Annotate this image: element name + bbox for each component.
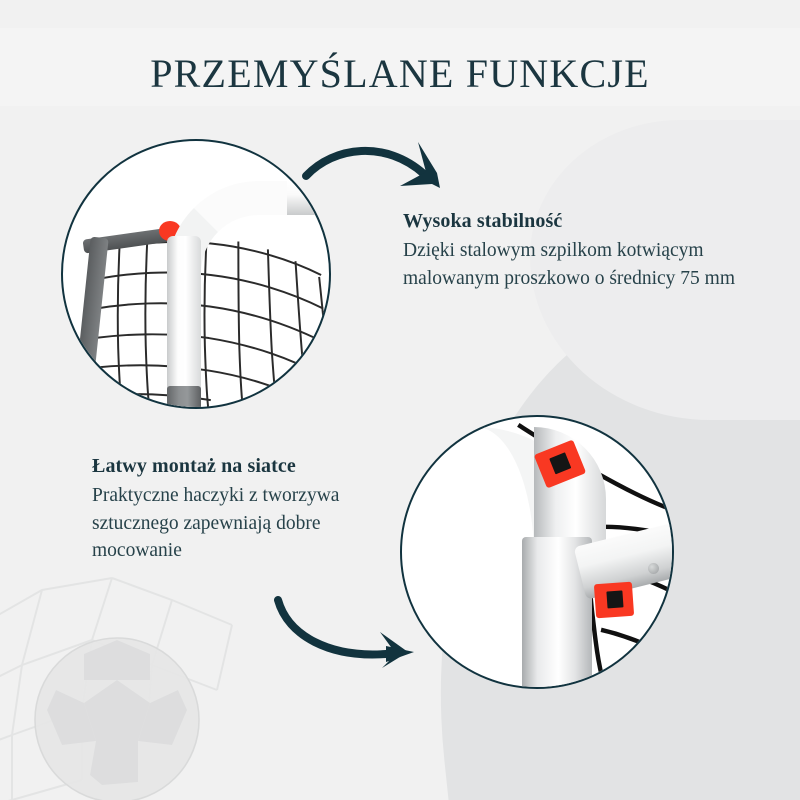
feature-heading-mounting: Łatwy montaż na siatce [92,454,382,479]
page-title: PRZEMYŚLANE FUNKCJE [0,50,800,97]
goal-vertical-post [167,236,201,409]
feature-heading-stability: Wysoka stabilność [403,209,793,234]
infographic-canvas: PRZEMYŚLANE FUNKCJE [0,0,800,800]
goal-corner-illustration [63,141,329,407]
screw-icon [648,563,659,574]
feature-text-stability: Wysoka stabilność Dzięki stalowym szpilk… [403,209,793,292]
red-net-clip-icon-bottom [594,582,634,619]
feature-photo-stability [61,139,331,409]
feature-body-mounting: Praktyczne haczyki z tworzywa sztucznego… [92,482,382,565]
goal-post-foot [167,386,201,409]
feature-text-mounting: Łatwy montaż na siatce Praktyczne haczyk… [92,454,382,565]
soccer-ball-watermark-icon [0,570,242,800]
feature-body-stability: Dzięki stalowym szpilkom kotwiącym malow… [403,237,793,292]
curved-arrow-bottom-icon [268,592,448,692]
